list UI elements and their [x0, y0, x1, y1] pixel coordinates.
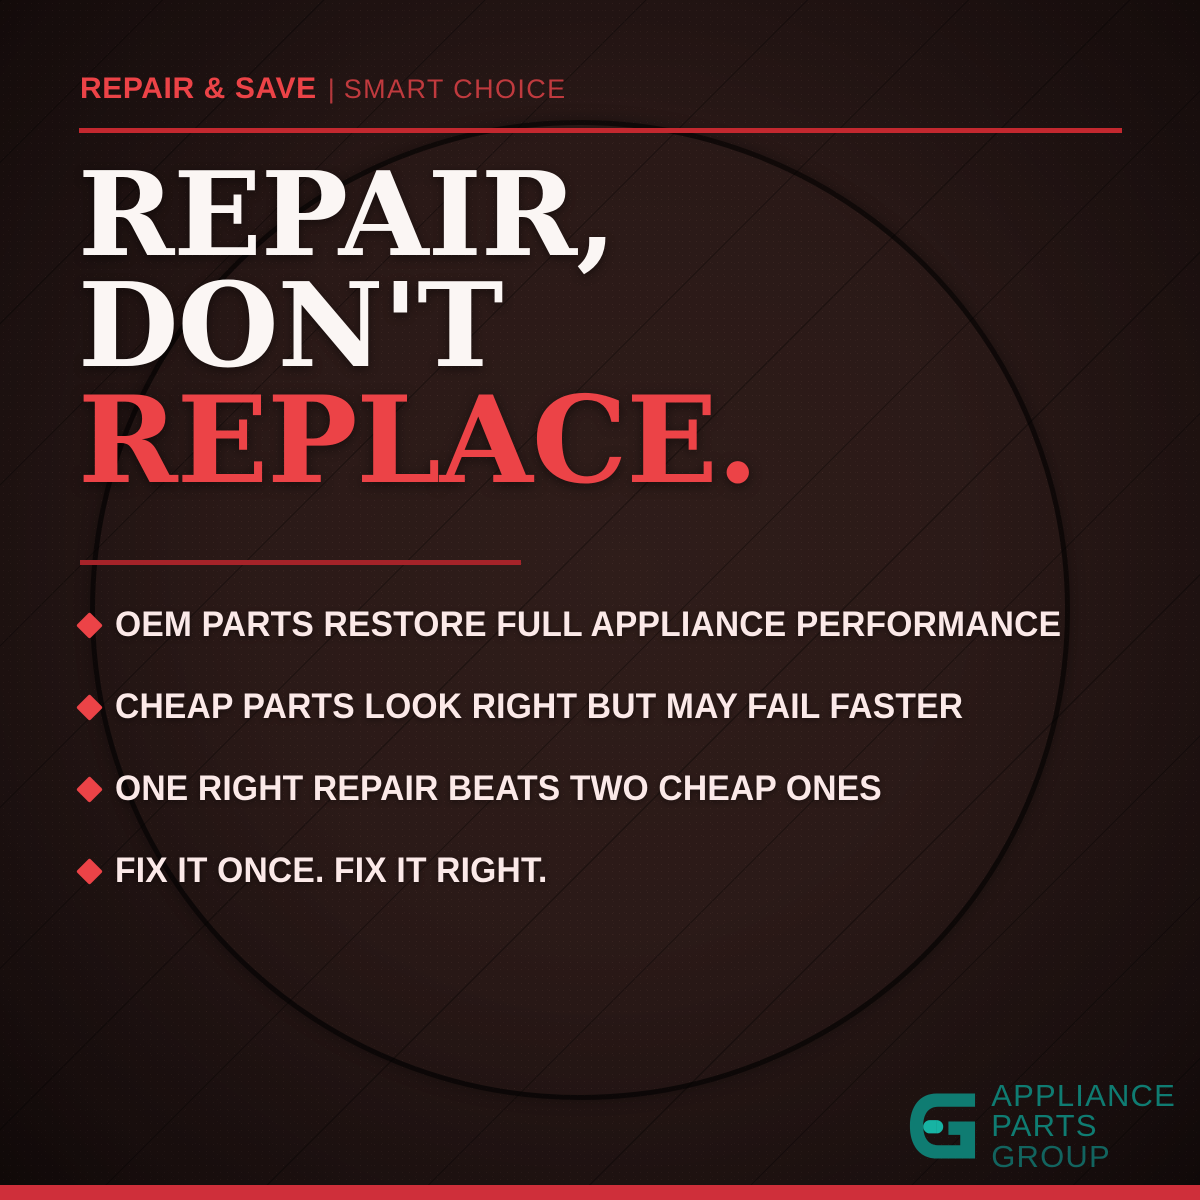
list-item-label: ONE RIGHT REPAIR BEATS TWO CHEAP ONES: [115, 769, 882, 809]
kicker-separator: |: [328, 74, 335, 105]
benefits-list: OEM PARTS RESTORE FULL APPLIANCE PERFORM…: [80, 584, 1155, 912]
headline-line-1: REPAIR,: [78, 160, 1138, 271]
list-item-label: FIX IT ONCE. FIX IT RIGHT.: [115, 851, 547, 891]
kicker: REPAIR & SAVE | SMART CHOICE: [80, 72, 567, 106]
brand-word-appliance: APPLIANCE: [991, 1081, 1176, 1111]
diamond-bullet-icon: [76, 858, 103, 885]
diamond-bullet-icon: [76, 776, 103, 803]
headline-divider-rule: [80, 560, 521, 565]
list-item: OEM PARTS RESTORE FULL APPLIANCE PERFORM…: [80, 584, 1155, 666]
brand-word-parts: PARTS: [991, 1111, 1176, 1141]
diamond-bullet-icon: [76, 612, 103, 639]
poster-content: REPAIR & SAVE | SMART CHOICE REPAIR, DON…: [0, 0, 1200, 1200]
brand-word-group: GROUP: [991, 1142, 1176, 1172]
list-item-label: OEM PARTS RESTORE FULL APPLIANCE PERFORM…: [115, 605, 1061, 645]
diamond-bullet-icon: [76, 694, 103, 721]
list-item-label: CHEAP PARTS LOOK RIGHT BUT MAY FAIL FAST…: [115, 687, 963, 727]
list-item: CHEAP PARTS LOOK RIGHT BUT MAY FAIL FAST…: [80, 666, 1155, 748]
g-letter-logo-icon: [904, 1089, 978, 1163]
headline-line-3-accent: REPLACE.: [78, 384, 1138, 499]
kicker-sub-label: SMART CHOICE: [344, 74, 567, 105]
poster-canvas: REPAIR & SAVE | SMART CHOICE REPAIR, DON…: [0, 0, 1200, 1200]
list-item: ONE RIGHT REPAIR BEATS TWO CHEAP ONES: [80, 748, 1155, 830]
headline: REPAIR, DON'T REPLACE.: [78, 160, 1138, 498]
brand-wordmark: APPLIANCE PARTS GROUP: [991, 1081, 1176, 1172]
headline-line-2: DON'T: [78, 271, 1138, 382]
bottom-accent-bar: [0, 1185, 1200, 1200]
brand-logo: APPLIANCE PARTS GROUP: [904, 1081, 1176, 1172]
list-item: FIX IT ONCE. FIX IT RIGHT.: [80, 830, 1155, 912]
kicker-main-label: REPAIR & SAVE: [80, 72, 317, 106]
header-rule: [79, 128, 1122, 133]
